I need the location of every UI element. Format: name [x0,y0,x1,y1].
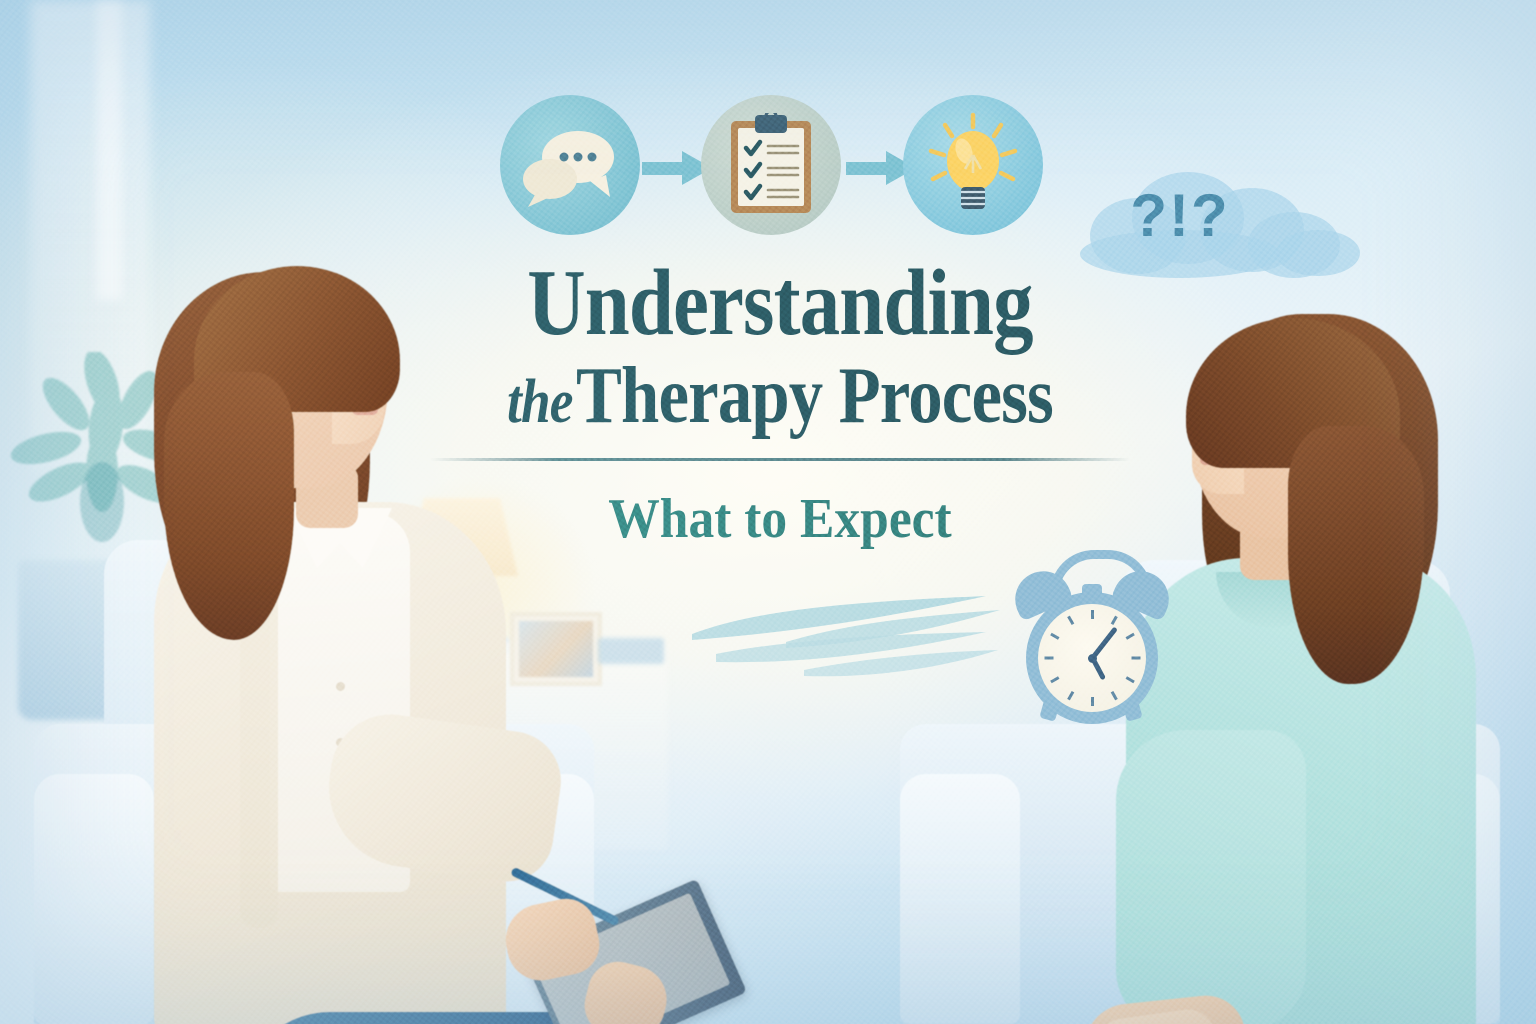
lightbulb-icon [919,111,1027,219]
alarm-clock-icon [1012,548,1172,710]
step-assessment[interactable] [701,95,841,235]
connection-waves-icon [686,588,1006,684]
headline-block: Understanding theTherapy Process What to… [400,258,1160,551]
title-the-word: the [507,368,576,436]
poster-canvas: ?!? [0,0,1536,1024]
step-conversation[interactable] [500,95,640,235]
title-line-2: theTherapy Process [453,356,1107,436]
title-line-1: Understanding [453,258,1107,348]
client-arm [1116,730,1306,1024]
speech-bubbles-icon [518,119,622,211]
title-divider [430,458,1130,461]
clipboard-checklist-icon [725,113,817,217]
thought-cloud-text: ?!? [1080,186,1280,246]
shelf-book [598,638,664,664]
process-icon-row [500,95,1045,250]
clock-face [1038,604,1146,712]
subtitle: What to Expect [430,487,1129,551]
window-mullion [96,0,122,300]
step-insight[interactable] [903,95,1043,235]
title-line-2-rest: Therapy Process [576,352,1053,440]
